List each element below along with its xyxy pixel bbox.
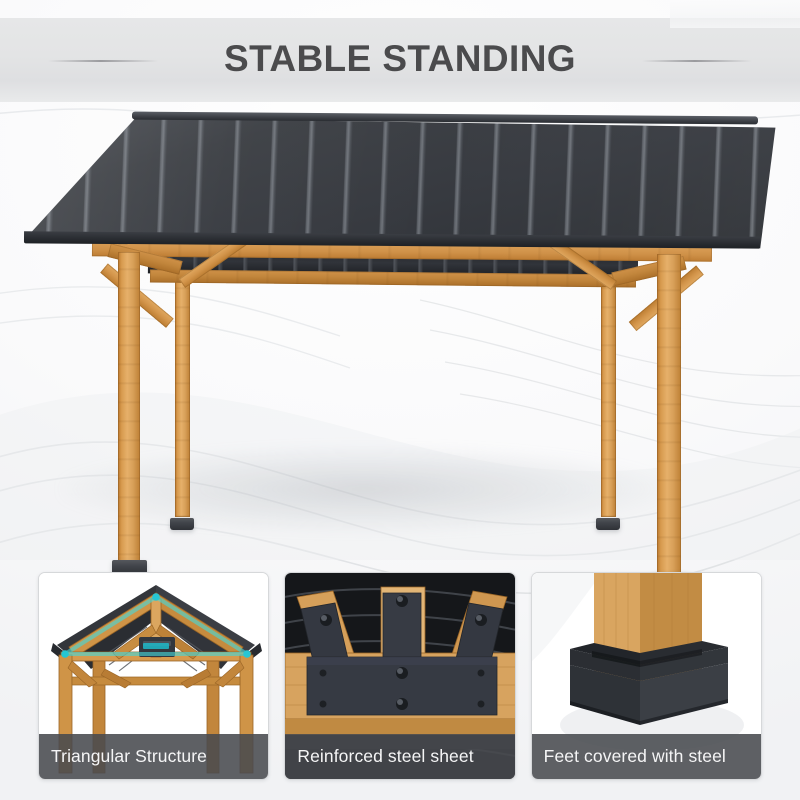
post-wood-grain xyxy=(175,252,190,517)
gazebo-ground-shadow xyxy=(60,432,720,542)
product-feature-image: STABLE STANDING xyxy=(0,0,800,800)
post-steel-foot xyxy=(596,518,620,530)
thumbnail-1-caption: Triangular Structure xyxy=(39,734,268,779)
header-banner: STABLE STANDING xyxy=(0,18,800,102)
post-wood-grain xyxy=(601,252,616,517)
header-gloss-accent xyxy=(670,0,800,28)
post-wood-grain xyxy=(118,252,140,562)
thumbnail-2-caption: Reinforced steel sheet xyxy=(285,734,514,779)
thumbnail-reinforced-steel-sheet[interactable]: Reinforced steel sheet xyxy=(284,572,515,780)
thumbnail-triangular-structure[interactable]: Triangular Structure xyxy=(38,572,269,780)
gazebo-post-front-right xyxy=(657,254,681,574)
hero-gazebo-photo xyxy=(0,102,800,562)
gazebo-post-rear-left xyxy=(175,252,190,517)
gazebo-post-rear-right xyxy=(601,252,616,517)
thumbnail-feet-covered-with-steel[interactable]: Feet covered with steel xyxy=(531,572,762,780)
thumbnail-3-caption: Feet covered with steel xyxy=(532,734,761,779)
page-title: STABLE STANDING xyxy=(0,38,800,80)
post-wood-grain xyxy=(657,254,681,574)
post-steel-foot xyxy=(170,518,194,530)
feature-thumbnail-row: Triangular Structure xyxy=(38,572,762,780)
gazebo-post-front-left xyxy=(118,252,140,562)
